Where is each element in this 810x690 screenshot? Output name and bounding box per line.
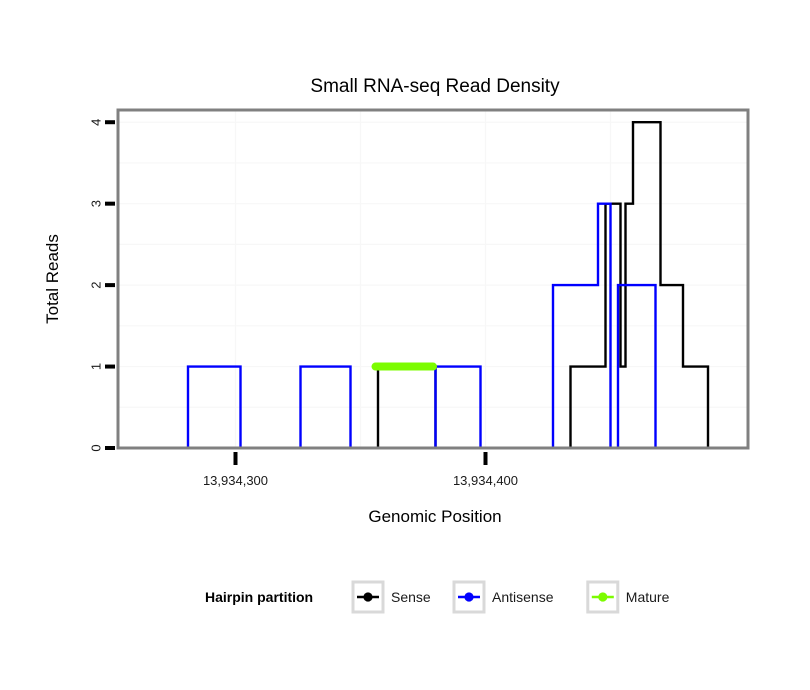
legend-item-label: Mature <box>626 589 670 605</box>
x-tick-label: 13,934,300 <box>203 473 268 488</box>
legend-item-label: Antisense <box>492 589 554 605</box>
legend-key-point <box>598 592 607 601</box>
legend-key-point <box>363 592 372 601</box>
y-axis-title: Total Reads <box>43 234 62 324</box>
y-tick-label: 3 <box>89 200 104 207</box>
legend-key-point <box>464 592 473 601</box>
plot-panel-background <box>118 110 748 448</box>
y-tick-label: 0 <box>89 444 104 451</box>
chart-page: Small RNA-seq Read Density Total Reads G… <box>0 0 810 690</box>
read-density-chart: Small RNA-seq Read Density Total Reads G… <box>0 0 810 690</box>
legend-item-label: Sense <box>391 589 431 605</box>
chart-title: Small RNA-seq Read Density <box>310 76 560 97</box>
y-tick-label: 4 <box>89 119 104 126</box>
legend-title: Hairpin partition <box>205 589 313 605</box>
y-tick-label: 1 <box>89 363 104 370</box>
y-tick-label: 2 <box>89 281 104 288</box>
x-axis-title: Genomic Position <box>368 507 501 526</box>
x-tick-label: 13,934,400 <box>453 473 518 488</box>
